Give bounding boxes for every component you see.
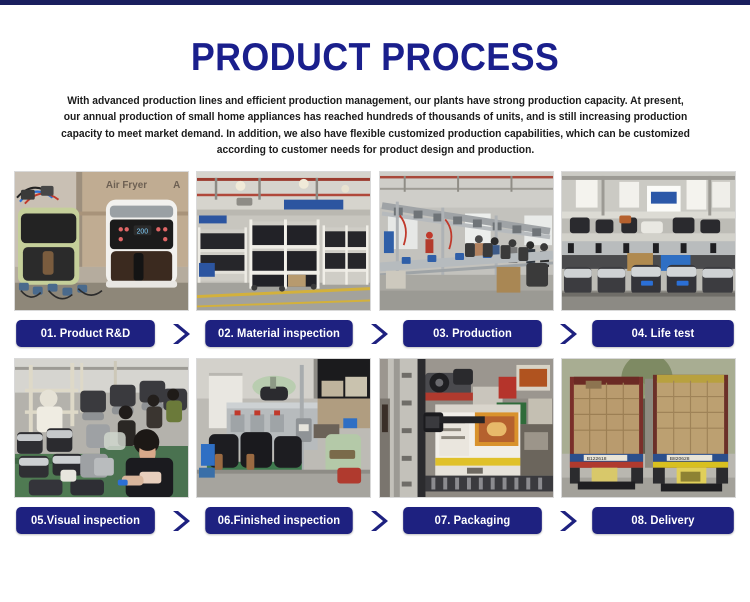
photo-finished-inspection: [196, 358, 371, 498]
photo-life-test: [561, 171, 736, 311]
chevron-right-icon: [169, 509, 191, 533]
arrow-1: [157, 322, 203, 346]
svg-text:200: 200: [137, 228, 149, 235]
photo-visual-inspection-art: [15, 359, 188, 497]
photo-cell-7: [379, 358, 554, 498]
photo-cell-6: [196, 358, 371, 498]
step-badge-6[interactable]: 06.Finished inspection: [205, 507, 352, 534]
photo-packaging: [379, 358, 554, 498]
chevron-right-icon: [556, 322, 578, 346]
photo-product-rd-art: Air Fryer A: [15, 172, 188, 310]
photo-cell-5: [14, 358, 189, 498]
chevron-right-icon: [367, 509, 389, 533]
photo-cell-1: Air Fryer A: [14, 171, 189, 311]
page-container: PRODUCT PROCESS With advanced production…: [0, 36, 750, 534]
photo-material-inspection-art: [197, 172, 370, 310]
photo-cell-8: B122618 B820628: [561, 358, 736, 498]
arrow-2: [355, 322, 401, 346]
step-badge-3[interactable]: 03. Production: [403, 320, 542, 347]
intro-paragraph: With advanced production lines and effic…: [57, 93, 692, 158]
svg-text:B122618: B122618: [587, 456, 607, 462]
photo-production: [379, 171, 554, 311]
photo-product-rd: Air Fryer A: [14, 171, 189, 311]
chevron-right-icon: [556, 509, 578, 533]
photo-row-2: B122618 B820628: [10, 358, 740, 498]
label-row-1: 01. Product R&D 02. Material inspection …: [10, 320, 740, 347]
step-badge-4[interactable]: 04. Life test: [592, 320, 734, 347]
photo-finished-inspection-art: [197, 359, 370, 497]
step-badge-8[interactable]: 08. Delivery: [592, 507, 734, 534]
label-row-2: 05.Visual inspection 06.Finished inspect…: [10, 507, 740, 534]
svg-text:Air Fryer: Air Fryer: [106, 180, 147, 191]
photo-visual-inspection: [14, 358, 189, 498]
photo-row-1: Air Fryer A: [10, 171, 740, 311]
arrow-3: [544, 322, 590, 346]
chevron-right-icon: [169, 322, 191, 346]
svg-text:A: A: [173, 180, 180, 191]
top-accent-bar: [0, 0, 750, 5]
photo-cell-3: [379, 171, 554, 311]
chevron-right-icon: [367, 322, 389, 346]
svg-text:B820628: B820628: [670, 456, 690, 462]
photo-delivery: B122618 B820628: [561, 358, 736, 498]
photo-packaging-art: [380, 359, 553, 497]
photo-material-inspection: [196, 171, 371, 311]
arrow-4: [157, 509, 203, 533]
photo-cell-2: [196, 171, 371, 311]
step-badge-1[interactable]: 01. Product R&D: [16, 320, 155, 347]
page-title: PRODUCT PROCESS: [39, 36, 711, 80]
photo-production-art: [380, 172, 553, 310]
arrow-5: [355, 509, 401, 533]
step-badge-7[interactable]: 07. Packaging: [403, 507, 542, 534]
photo-life-test-art: [562, 172, 735, 310]
photo-delivery-art: B122618 B820628: [562, 359, 735, 497]
photo-cell-4: [561, 171, 736, 311]
arrow-6: [544, 509, 590, 533]
step-badge-2[interactable]: 02. Material inspection: [205, 320, 352, 347]
step-badge-5[interactable]: 05.Visual inspection: [16, 507, 155, 534]
